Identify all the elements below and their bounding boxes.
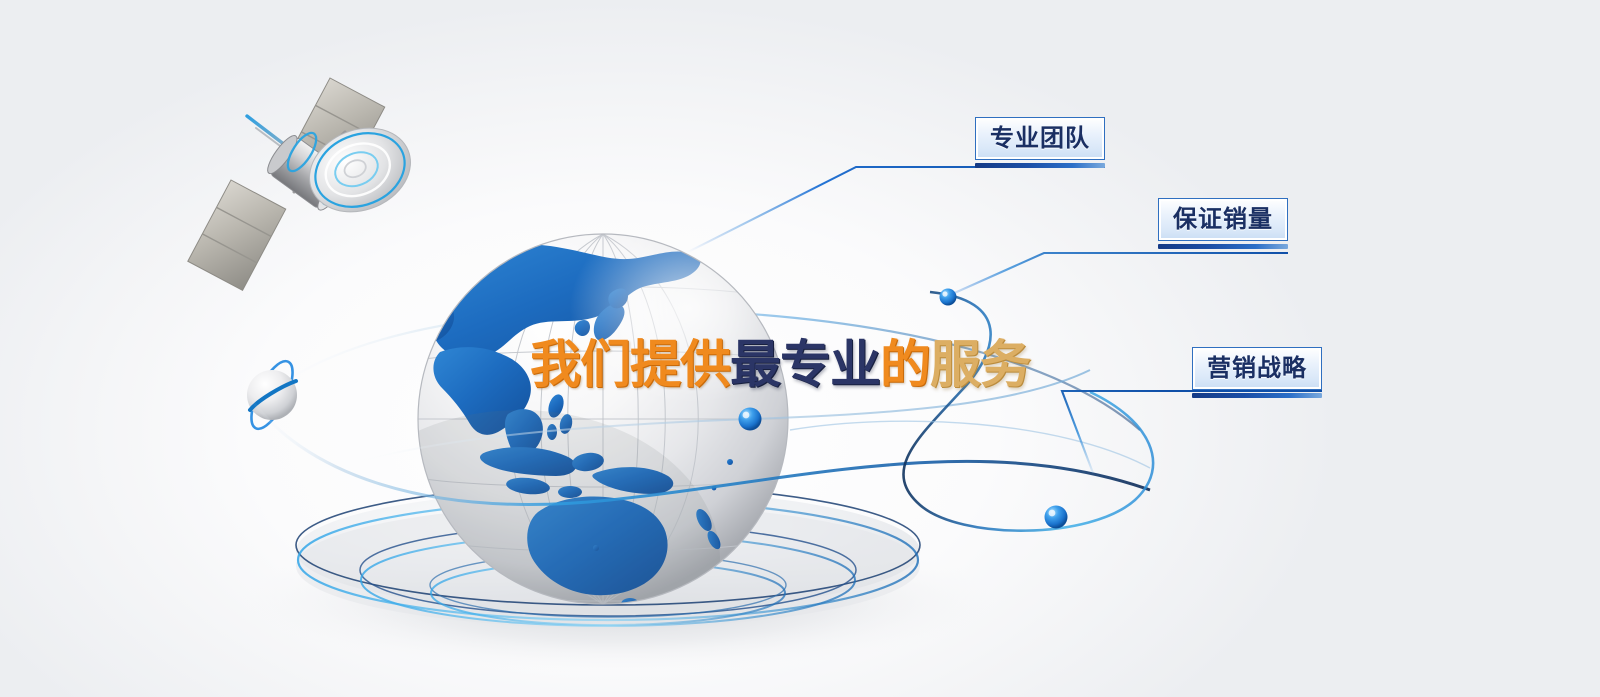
- antenna-mast-secondary-icon: [256, 128, 307, 166]
- mini-orbit-ring-back: [243, 356, 301, 435]
- land-new-guinea: [592, 467, 673, 494]
- earth-globe: [320, 212, 810, 697]
- callout-box-guaranteed-sales[interactable]: 保证销量: [1158, 198, 1288, 241]
- body-ring-icon: [282, 129, 321, 176]
- orbit-path-faint-right: [790, 421, 1150, 468]
- orbit-node-upper[interactable]: [940, 289, 957, 306]
- orbit-node-lower[interactable]: [1045, 506, 1068, 529]
- connector-professional-team: [688, 167, 1105, 252]
- globe-latitude-grid: [418, 234, 788, 602]
- land-tasmania: [621, 598, 639, 610]
- land-australia: [527, 497, 667, 596]
- platform-ring-1: [296, 485, 920, 605]
- callout-professional-team[interactable]: 专业团队: [975, 117, 1105, 160]
- platform-disc: [296, 489, 920, 613]
- callout-box-professional-team[interactable]: 专业团队: [975, 117, 1105, 160]
- body-ring-secondary-icon: [315, 156, 361, 210]
- callout-underbar-marketing-strategy: [1192, 393, 1322, 398]
- platform-disc-lower: [296, 504, 920, 628]
- callout-label-guaranteed-sales: 保证销量: [1173, 207, 1273, 231]
- land-new-zealand: [693, 507, 723, 552]
- callout-label-marketing-strategy: 营销战略: [1207, 356, 1307, 380]
- headline-segment-3: 的: [880, 340, 930, 391]
- connector-guaranteed-sales: [950, 253, 1288, 295]
- orbit-path-wide-front: [248, 395, 1150, 504]
- headline-segment-4: 服务: [930, 340, 1030, 391]
- land-west-edge: [408, 296, 454, 343]
- callout-underbar-professional-team: [975, 163, 1105, 168]
- globe-rim: [418, 234, 788, 604]
- orbiting-sphere: [243, 356, 301, 435]
- globe-sphere: [418, 234, 788, 604]
- mini-orbit-ring-front: [250, 381, 296, 410]
- solar-panel-lower: [188, 180, 286, 290]
- headline: 我们提供最专业的服务: [530, 340, 1030, 391]
- satellite: [188, 78, 423, 290]
- land-korea: [575, 320, 590, 336]
- solar-panel-upper-strut: [322, 132, 352, 160]
- headline-segment-1: 我们提供: [530, 340, 730, 391]
- platform-ring-6: [431, 561, 785, 625]
- banner-canvas: 我们提供最专业的服务 专业团队 保证销量 营销战略 我们提供最专业的服务: [0, 0, 1600, 697]
- dish-antenna: [297, 113, 423, 226]
- land-central-asia: [433, 347, 530, 435]
- dish-ring-4-icon: [342, 157, 368, 180]
- orbit-path-right-loop: [903, 292, 1153, 531]
- callout-marketing-strategy[interactable]: 营销战略: [1192, 347, 1322, 390]
- antenna-mast-icon: [247, 116, 302, 158]
- headline-full-text: 我们提供最专业的服务: [0, 0, 1, 1]
- solar-panel-upper: [287, 78, 385, 188]
- callout-guaranteed-sales[interactable]: 保证销量: [1158, 198, 1288, 241]
- callout-box-marketing-strategy[interactable]: 营销战略: [1192, 347, 1322, 390]
- callout-label-professional-team: 专业团队: [990, 126, 1090, 150]
- land-indonesia: [480, 447, 605, 498]
- platform-ring-4: [361, 534, 855, 626]
- globe-shading: [320, 410, 720, 697]
- headline-segment-2: 最专业: [730, 340, 880, 391]
- land-philippines: [546, 392, 574, 440]
- globe-longitude-grid: [509, 234, 698, 604]
- solar-panel-lower-strut: [286, 170, 309, 192]
- land-japan-north: [608, 289, 628, 309]
- globe-landmasses: [408, 244, 733, 610]
- satellite-body: [263, 132, 352, 214]
- land-japan: [594, 304, 625, 341]
- callout-underbar-guaranteed-sales: [1158, 244, 1288, 249]
- land-island-a: [727, 459, 733, 465]
- platform-ring-5: [430, 553, 786, 617]
- land-southeast-asia: [505, 409, 543, 455]
- globe-ground-shadow: [220, 524, 1020, 676]
- land-island-b: [712, 486, 717, 491]
- dish-ring-1-icon: [304, 120, 416, 219]
- platform-ring-3: [360, 524, 856, 616]
- dish-ring-2-icon: [318, 134, 398, 205]
- dish-ring-3-icon: [330, 146, 383, 192]
- orbit-node-center[interactable]: [739, 408, 762, 431]
- mini-sphere-body: [247, 370, 297, 420]
- connector-marketing-strategy: [1062, 391, 1322, 473]
- thruster-cone: [336, 178, 364, 205]
- platform-ring-2: [298, 500, 918, 620]
- land-island-c: [593, 545, 599, 551]
